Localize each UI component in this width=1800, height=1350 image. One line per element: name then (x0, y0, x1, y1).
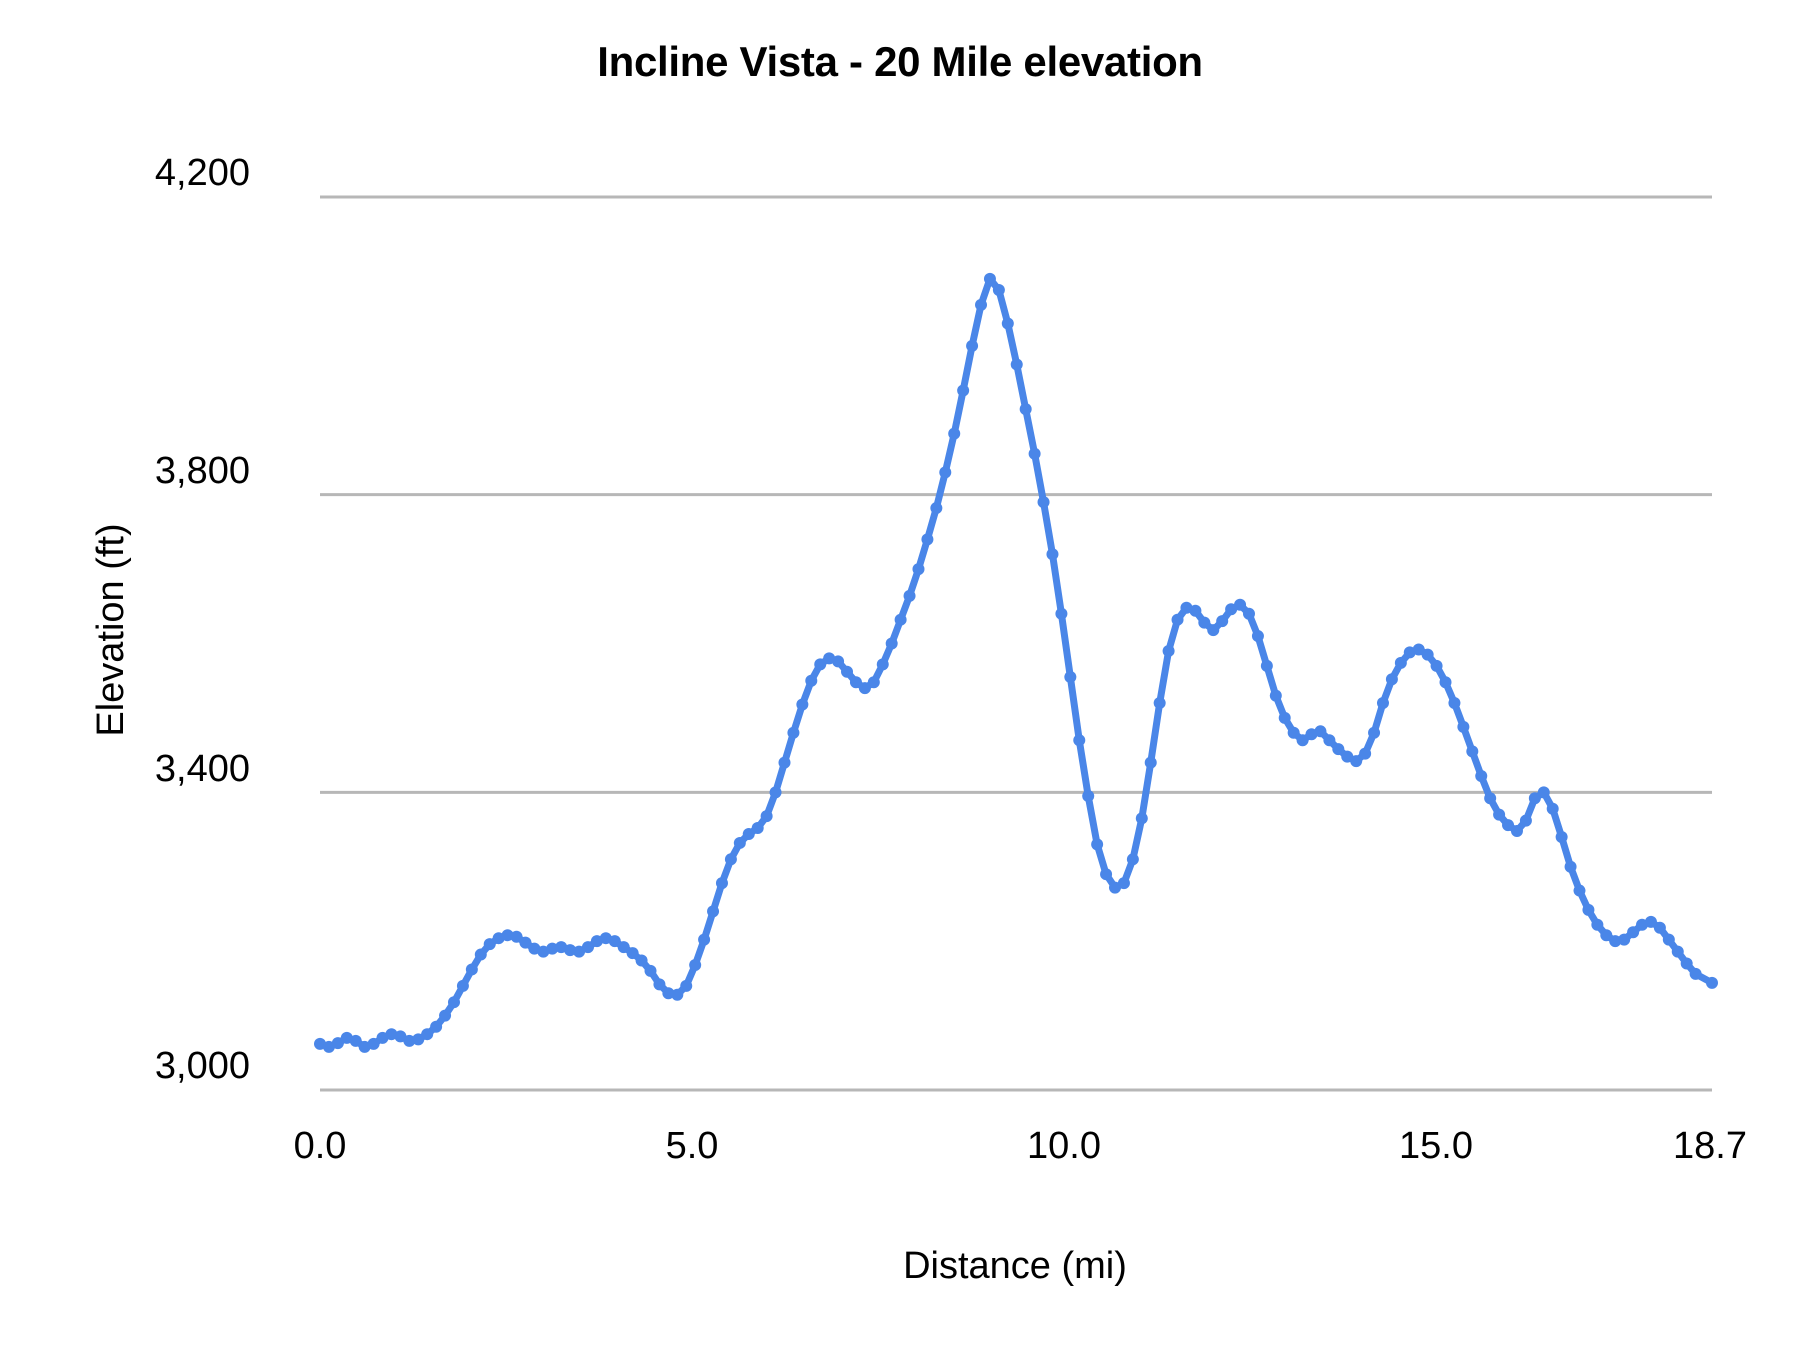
series-line (320, 279, 1712, 1047)
gridlines (320, 197, 1712, 1090)
series-elevation (314, 273, 1718, 1053)
series-markers (314, 273, 1718, 1053)
plot-area (0, 0, 1800, 1350)
elevation-chart: Incline Vista - 20 Mile elevation 4,200 … (0, 0, 1800, 1350)
